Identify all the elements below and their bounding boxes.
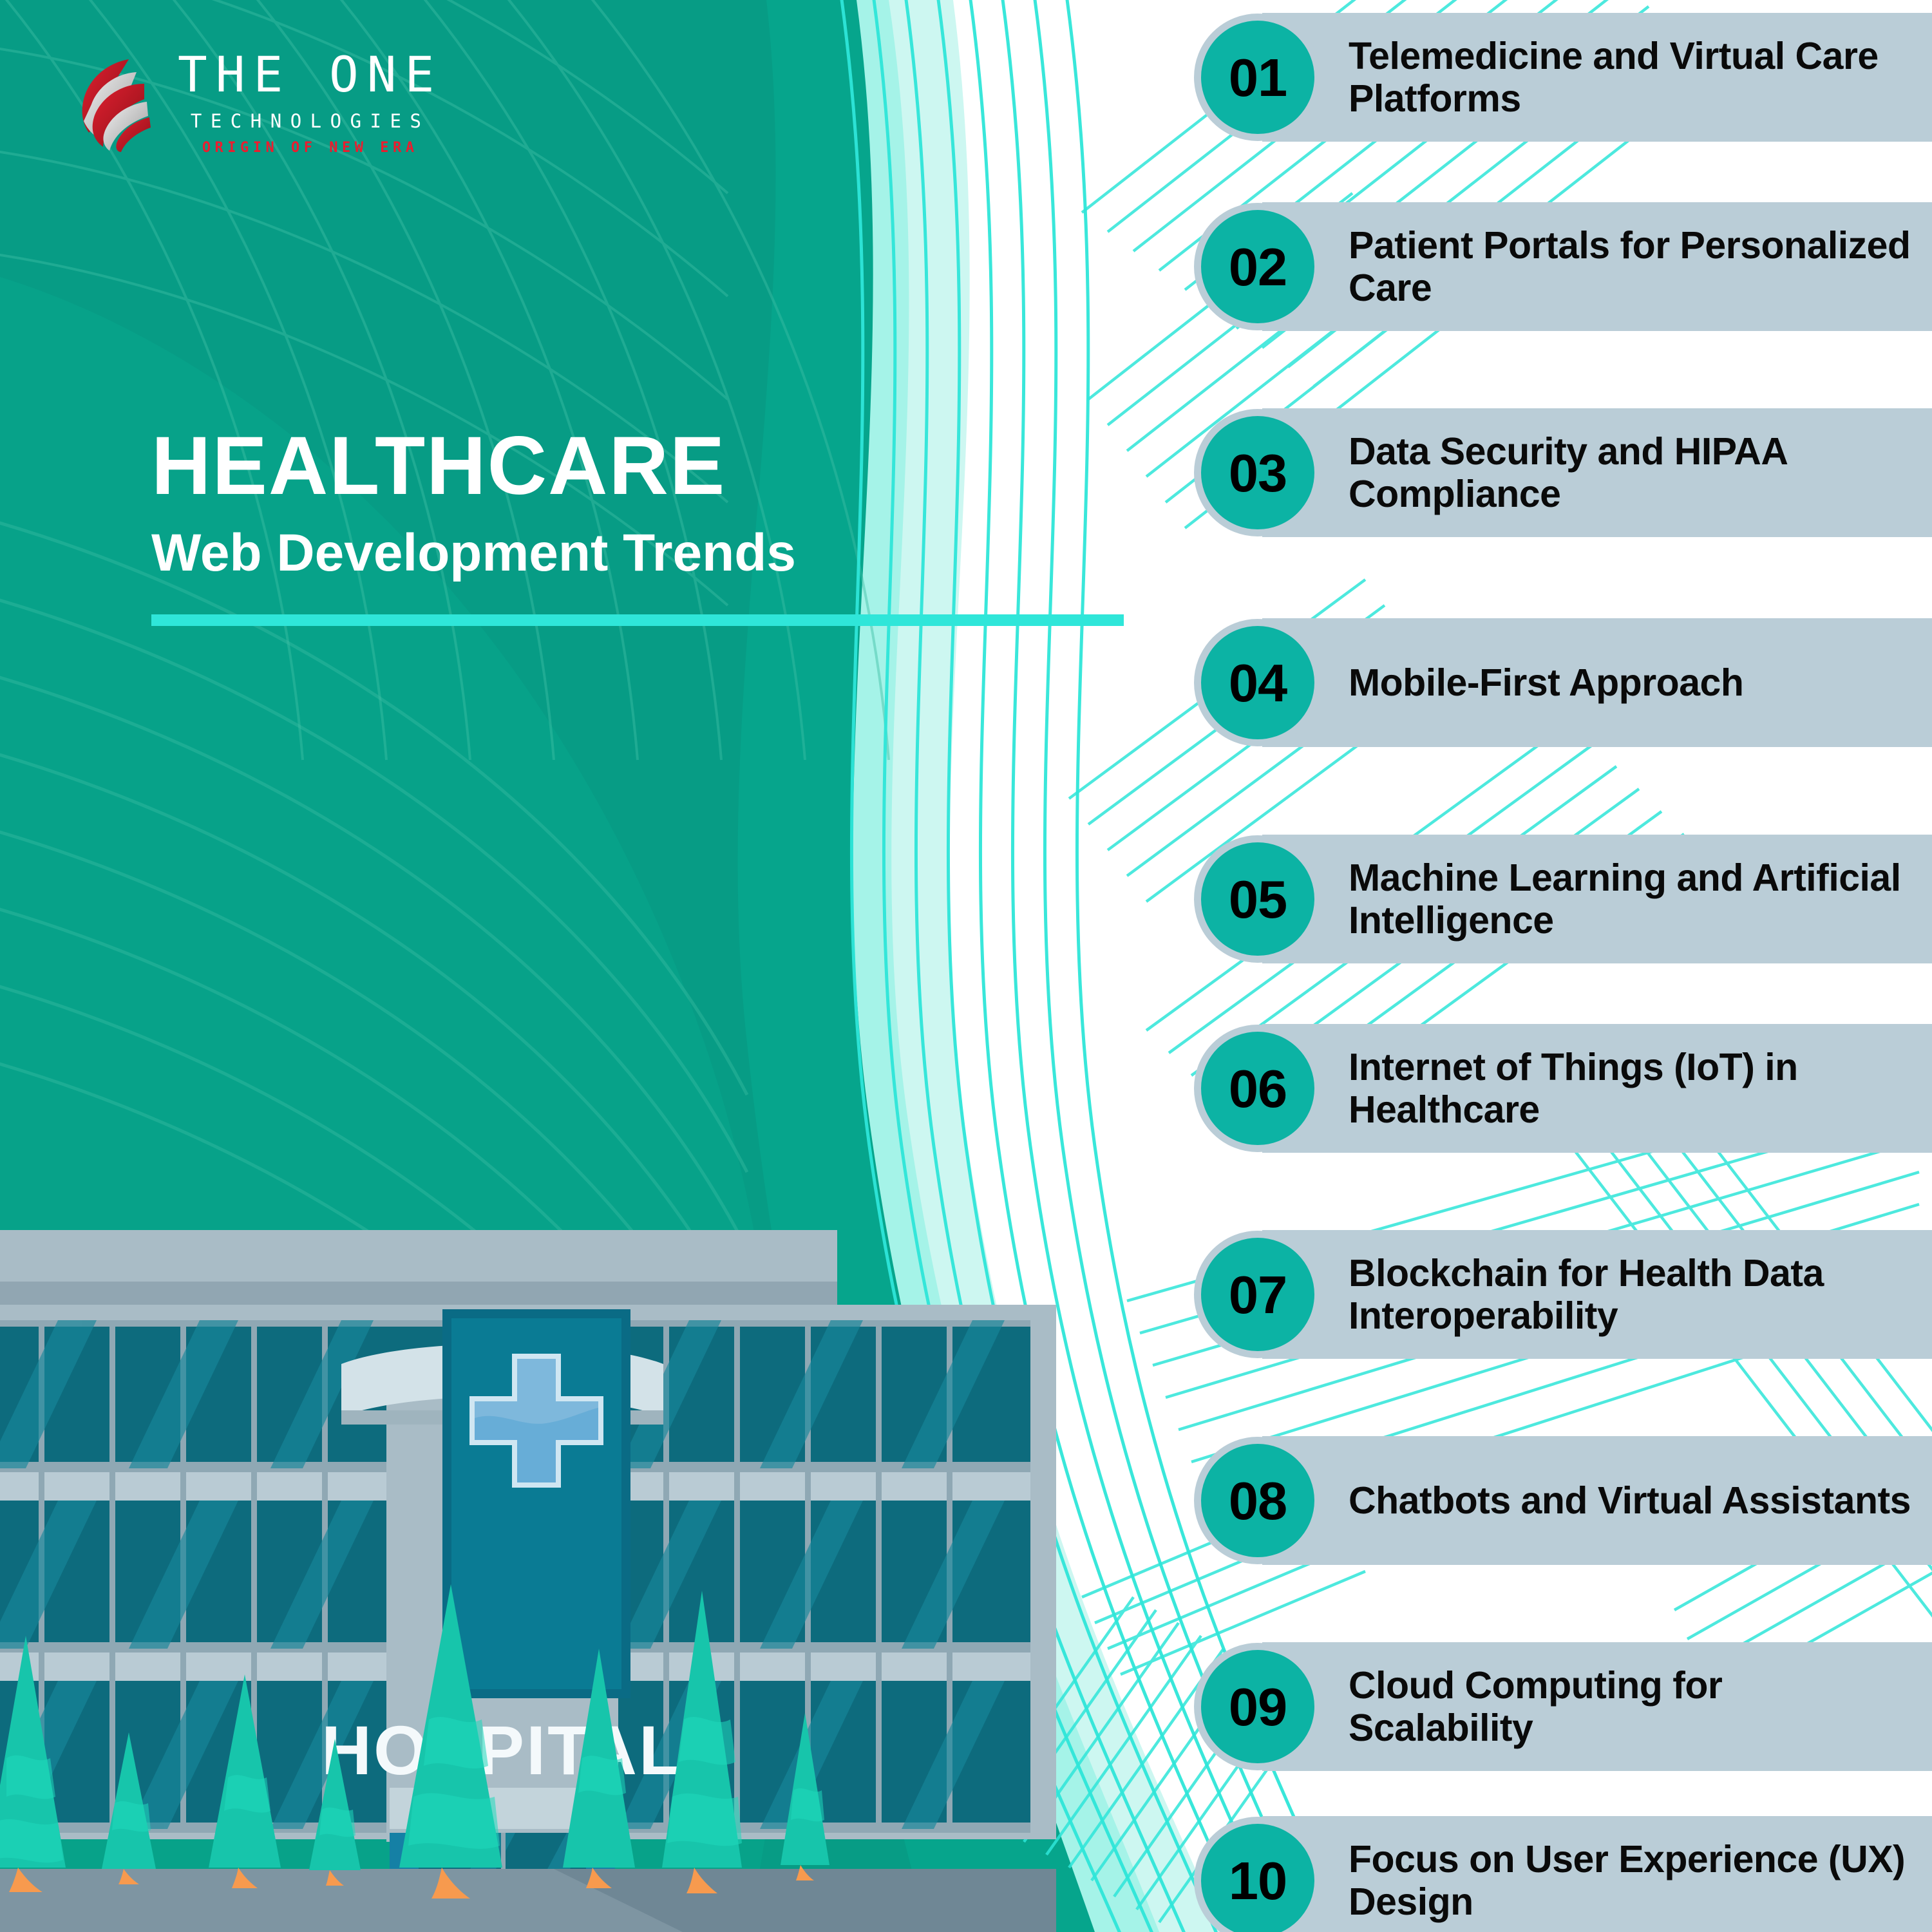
list-item-label: Blockchain for Health Data Interoperabil… bbox=[1349, 1252, 1915, 1337]
brand-logo: THE ONE TECHNOLOGIES ORIGIN OF NEW ERA bbox=[70, 50, 442, 155]
list-item[interactable]: 09 Cloud Computing for Scalability bbox=[1198, 1642, 1915, 1771]
list-item-label: Data Security and HIPAA Compliance bbox=[1349, 430, 1915, 515]
list-item[interactable]: 01 Telemedicine and Virtual Care Platfor… bbox=[1198, 13, 1915, 142]
list-item-label: Cloud Computing for Scalability bbox=[1349, 1664, 1915, 1749]
list-item-number-badge: 06 bbox=[1194, 1025, 1321, 1152]
list-item[interactable]: 03 Data Security and HIPAA Compliance bbox=[1198, 408, 1915, 537]
list-item[interactable]: 07 Blockchain for Health Data Interopera… bbox=[1198, 1230, 1915, 1359]
list-item[interactable]: 10 Focus on User Experience (UX) Design bbox=[1198, 1816, 1915, 1932]
trends-list: 01 Telemedicine and Virtual Care Platfor… bbox=[1198, 0, 1932, 1932]
page-subtitle: Web Development Trends bbox=[151, 526, 1117, 581]
list-item[interactable]: 04 Mobile-First Approach bbox=[1198, 618, 1915, 747]
page-title: HEALTHCARE bbox=[151, 425, 1117, 507]
list-item-label: Mobile-First Approach bbox=[1349, 661, 1915, 704]
list-item-number-badge: 01 bbox=[1194, 14, 1321, 141]
list-item[interactable]: 05 Machine Learning and Artificial Intel… bbox=[1198, 835, 1915, 963]
list-item-label: Machine Learning and Artificial Intellig… bbox=[1349, 857, 1915, 942]
hospital-sign-text: HOSPITAL bbox=[321, 1711, 683, 1789]
list-item-number-badge: 04 bbox=[1194, 619, 1321, 746]
list-item-number-badge: 07 bbox=[1194, 1231, 1321, 1358]
list-item-label: Chatbots and Virtual Assistants bbox=[1349, 1479, 1915, 1522]
list-item[interactable]: 06 Internet of Things (IoT) in Healthcar… bbox=[1198, 1024, 1915, 1153]
logo-name-line2: TECHNOLOGIES bbox=[191, 112, 430, 131]
headline-block: HEALTHCARE Web Development Trends bbox=[151, 425, 1117, 626]
infographic-poster: THE ONE TECHNOLOGIES ORIGIN OF NEW ERA H… bbox=[0, 0, 1932, 1932]
list-item-label: Internet of Things (IoT) in Healthcare bbox=[1349, 1046, 1915, 1131]
list-item-number-badge: 05 bbox=[1194, 835, 1321, 963]
list-item-label: Telemedicine and Virtual Care Platforms bbox=[1349, 35, 1915, 120]
list-item-number-badge: 02 bbox=[1194, 203, 1321, 330]
globe-sphere-logo-icon bbox=[70, 54, 156, 152]
logo-name-line1: THE ONE bbox=[178, 50, 442, 99]
list-item-number-badge: 08 bbox=[1194, 1437, 1321, 1564]
list-item[interactable]: 02 Patient Portals for Personalized Care bbox=[1198, 202, 1915, 331]
list-item-number-badge: 09 bbox=[1194, 1643, 1321, 1770]
title-underline-rule bbox=[151, 614, 1124, 626]
list-item-number: 07 bbox=[1229, 1268, 1287, 1321]
list-item-number: 08 bbox=[1229, 1474, 1287, 1528]
list-item-number-badge: 03 bbox=[1194, 409, 1321, 536]
list-item-label: Focus on User Experience (UX) Design bbox=[1349, 1838, 1915, 1923]
list-item-number: 01 bbox=[1229, 51, 1287, 104]
list-item-number: 04 bbox=[1229, 656, 1287, 710]
list-item-number: 03 bbox=[1229, 446, 1287, 500]
list-item-number: 09 bbox=[1229, 1680, 1287, 1734]
list-item-number: 10 bbox=[1229, 1854, 1287, 1908]
list-item-number: 06 bbox=[1229, 1062, 1287, 1115]
logo-tagline: ORIGIN OF NEW ERA bbox=[202, 141, 419, 155]
hospital-illustration: HOSPITAL bbox=[0, 1224, 1056, 1932]
list-item-label: Patient Portals for Personalized Care bbox=[1349, 224, 1915, 309]
list-item-number: 02 bbox=[1229, 240, 1287, 294]
list-item[interactable]: 08 Chatbots and Virtual Assistants bbox=[1198, 1436, 1915, 1565]
list-item-number: 05 bbox=[1229, 873, 1287, 926]
